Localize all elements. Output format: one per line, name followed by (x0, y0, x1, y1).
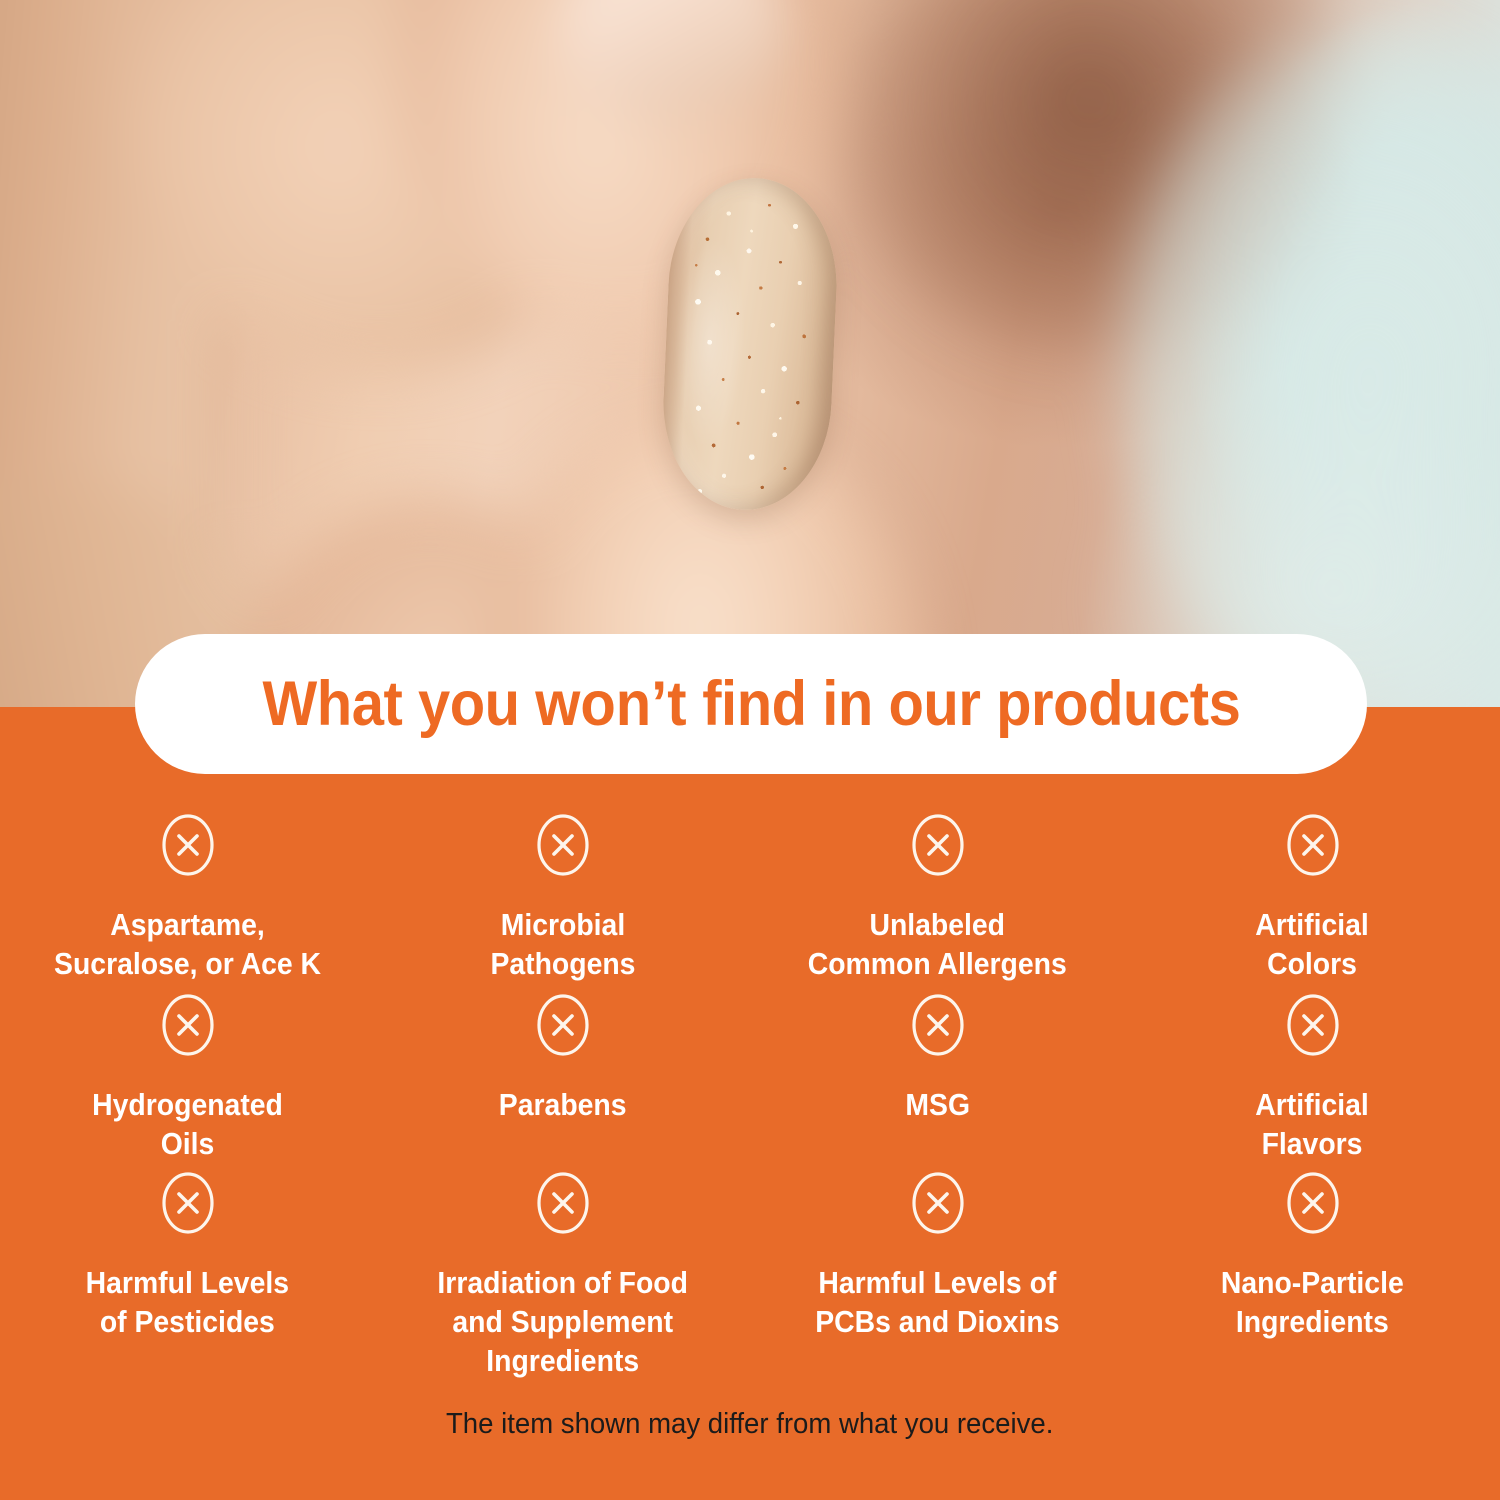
disclaimer-text: The item shown may differ from what you … (446, 1408, 1053, 1441)
exclusion-label: Microbial Pathogens (490, 906, 635, 984)
x-circle-icon (1285, 812, 1341, 878)
x-circle-icon (160, 1170, 216, 1236)
supplement-tablet (659, 174, 841, 513)
page-title: What you won’t find in our products (262, 668, 1240, 740)
footer: The item shown may differ from what you … (0, 1408, 1500, 1441)
exclusion-item: Artificial Flavors (1125, 992, 1500, 1170)
exclusion-item: Microbial Pathogens (375, 812, 750, 992)
exclusion-item: Hydrogenated Oils (0, 992, 375, 1170)
x-circle-icon (1285, 992, 1341, 1058)
hero-photo (0, 0, 1500, 740)
exclusion-label: Unlabeled Common Allergens (808, 906, 1067, 984)
exclusion-item: Unlabeled Common Allergens (750, 812, 1125, 992)
exclusion-label: Harmful Levels of Pesticides (86, 1264, 289, 1342)
exclusion-item: Aspartame, Sucralose, or Ace K (0, 812, 375, 992)
exclusion-label: Hydrogenated Oils (92, 1086, 283, 1164)
x-circle-icon (910, 812, 966, 878)
title-banner: What you won’t find in our products (135, 634, 1367, 774)
exclusion-item: Nano-Particle Ingredients (1125, 1170, 1500, 1348)
x-circle-icon (160, 992, 216, 1058)
exclusion-label: Aspartame, Sucralose, or Ace K (54, 906, 321, 984)
x-circle-icon (910, 1170, 966, 1236)
exclusion-item: Artificial Colors (1125, 812, 1500, 992)
title-text-part2: find in our products (686, 669, 1240, 739)
x-circle-icon (1285, 1170, 1341, 1236)
exclusion-label: Artificial Colors (1256, 906, 1369, 984)
x-circle-icon (535, 812, 591, 878)
x-circle-icon (535, 992, 591, 1058)
exclusion-item: Irradiation of Food and Supplement Ingre… (375, 1170, 750, 1348)
exclusion-item: Parabens (375, 992, 750, 1170)
exclusion-item: Harmful Levels of PCBs and Dioxins (750, 1170, 1125, 1348)
x-circle-icon (535, 1170, 591, 1236)
exclusion-label: Irradiation of Food and Supplement Ingre… (437, 1264, 688, 1381)
exclusion-item: Harmful Levels of Pesticides (0, 1170, 375, 1348)
exclusion-label: Nano-Particle Ingredients (1221, 1264, 1404, 1342)
exclusion-label: MSG (905, 1086, 970, 1125)
exclusion-label: Artificial Flavors (1256, 1086, 1369, 1164)
title-text-part1: What you (262, 669, 535, 739)
exclusion-label: Harmful Levels of PCBs and Dioxins (815, 1264, 1059, 1342)
x-circle-icon (160, 812, 216, 878)
exclusions-grid: Aspartame, Sucralose, or Ace K Microbial… (0, 812, 1500, 1348)
x-circle-icon (910, 992, 966, 1058)
title-text-emphasis: won’t (535, 669, 686, 739)
exclusion-item: MSG (750, 992, 1125, 1170)
exclusion-label: Parabens (499, 1086, 627, 1125)
